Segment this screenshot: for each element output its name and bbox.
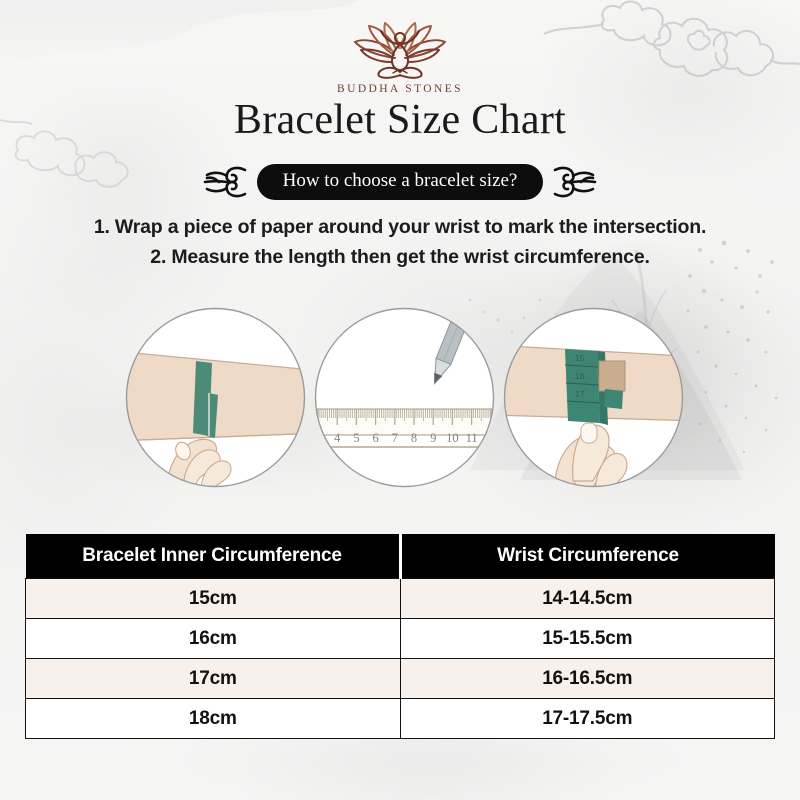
ruler-tick-label: 6: [372, 431, 378, 445]
instruction-step-1: 1. Wrap a piece of paper around your wri…: [0, 213, 800, 243]
table-header-row: Bracelet Inner Circumference Wrist Circu…: [26, 534, 775, 579]
subtitle-row: How to choose a bracelet size?: [0, 162, 800, 202]
ruler-tick-label: 4: [334, 431, 341, 445]
instruction-list: 1. Wrap a piece of paper around your wri…: [0, 213, 800, 272]
tape-mark-label: 16: [575, 371, 585, 381]
ruler-tick-label: 5: [353, 431, 359, 445]
illustration-wrist-with-paper-strip: [123, 305, 308, 490]
tape-mark-label: 17: [575, 389, 585, 399]
tape-mark-label: 15: [575, 353, 585, 363]
ruler-tick-label: 11: [466, 431, 478, 445]
size-chart-table: Bracelet Inner Circumference Wrist Circu…: [25, 534, 775, 739]
cell-bracelet-inner-circumference: 17cm: [26, 659, 401, 699]
instruction-step-2: 2. Measure the length then get the wrist…: [0, 243, 800, 273]
ornament-flourish-right-icon: [553, 162, 599, 202]
cell-bracelet-inner-circumference: 16cm: [26, 619, 401, 659]
table-header-wrist-circumference: Wrist Circumference: [400, 534, 775, 579]
illustration-row: 3456789101112 1516: [0, 305, 800, 495]
cell-bracelet-inner-circumference: 15cm: [26, 579, 401, 619]
ruler-tick-label: 7: [392, 431, 398, 445]
ruler-tick-label: 10: [446, 431, 459, 445]
cell-wrist-circumference: 16-16.5cm: [400, 659, 775, 699]
brand-wordmark: BUDDHA STONES: [0, 83, 800, 95]
wrist-wrap-paper-icon: [123, 305, 308, 490]
cell-bracelet-inner-circumference: 18cm: [26, 699, 401, 739]
ruler-tick-label: 8: [411, 431, 417, 445]
subtitle-pill: How to choose a bracelet size?: [257, 164, 544, 200]
table-row: 16cm15-15.5cm: [26, 619, 775, 659]
table-row: 15cm14-14.5cm: [26, 579, 775, 619]
table-header-bracelet-inner-circumference: Bracelet Inner Circumference: [26, 534, 401, 579]
ruler-tick-label: 3: [315, 431, 321, 445]
ornament-flourish-left-icon: [201, 162, 247, 202]
cell-wrist-circumference: 17-17.5cm: [400, 699, 775, 739]
brand-logo: BUDDHA STONES: [0, 22, 800, 95]
wrist-measuring-tape-icon: 151617: [501, 305, 686, 490]
table-row: 18cm17-17.5cm: [26, 699, 775, 739]
illustration-ruler-with-pencil: 3456789101112: [312, 305, 497, 490]
cell-wrist-circumference: 14-14.5cm: [400, 579, 775, 619]
page-title: Bracelet Size Chart: [0, 99, 800, 141]
ruler-tick-label: 9: [430, 431, 436, 445]
table-body: 15cm14-14.5cm16cm15-15.5cm17cm16-16.5cm1…: [26, 579, 775, 739]
cell-wrist-circumference: 15-15.5cm: [400, 619, 775, 659]
table-row: 17cm16-16.5cm: [26, 659, 775, 699]
illustration-wrist-with-measuring-tape: 151617: [501, 305, 686, 490]
lotus-buddha-logo-icon: [337, 22, 463, 82]
ruler-pencil-icon: 3456789101112: [312, 305, 497, 490]
